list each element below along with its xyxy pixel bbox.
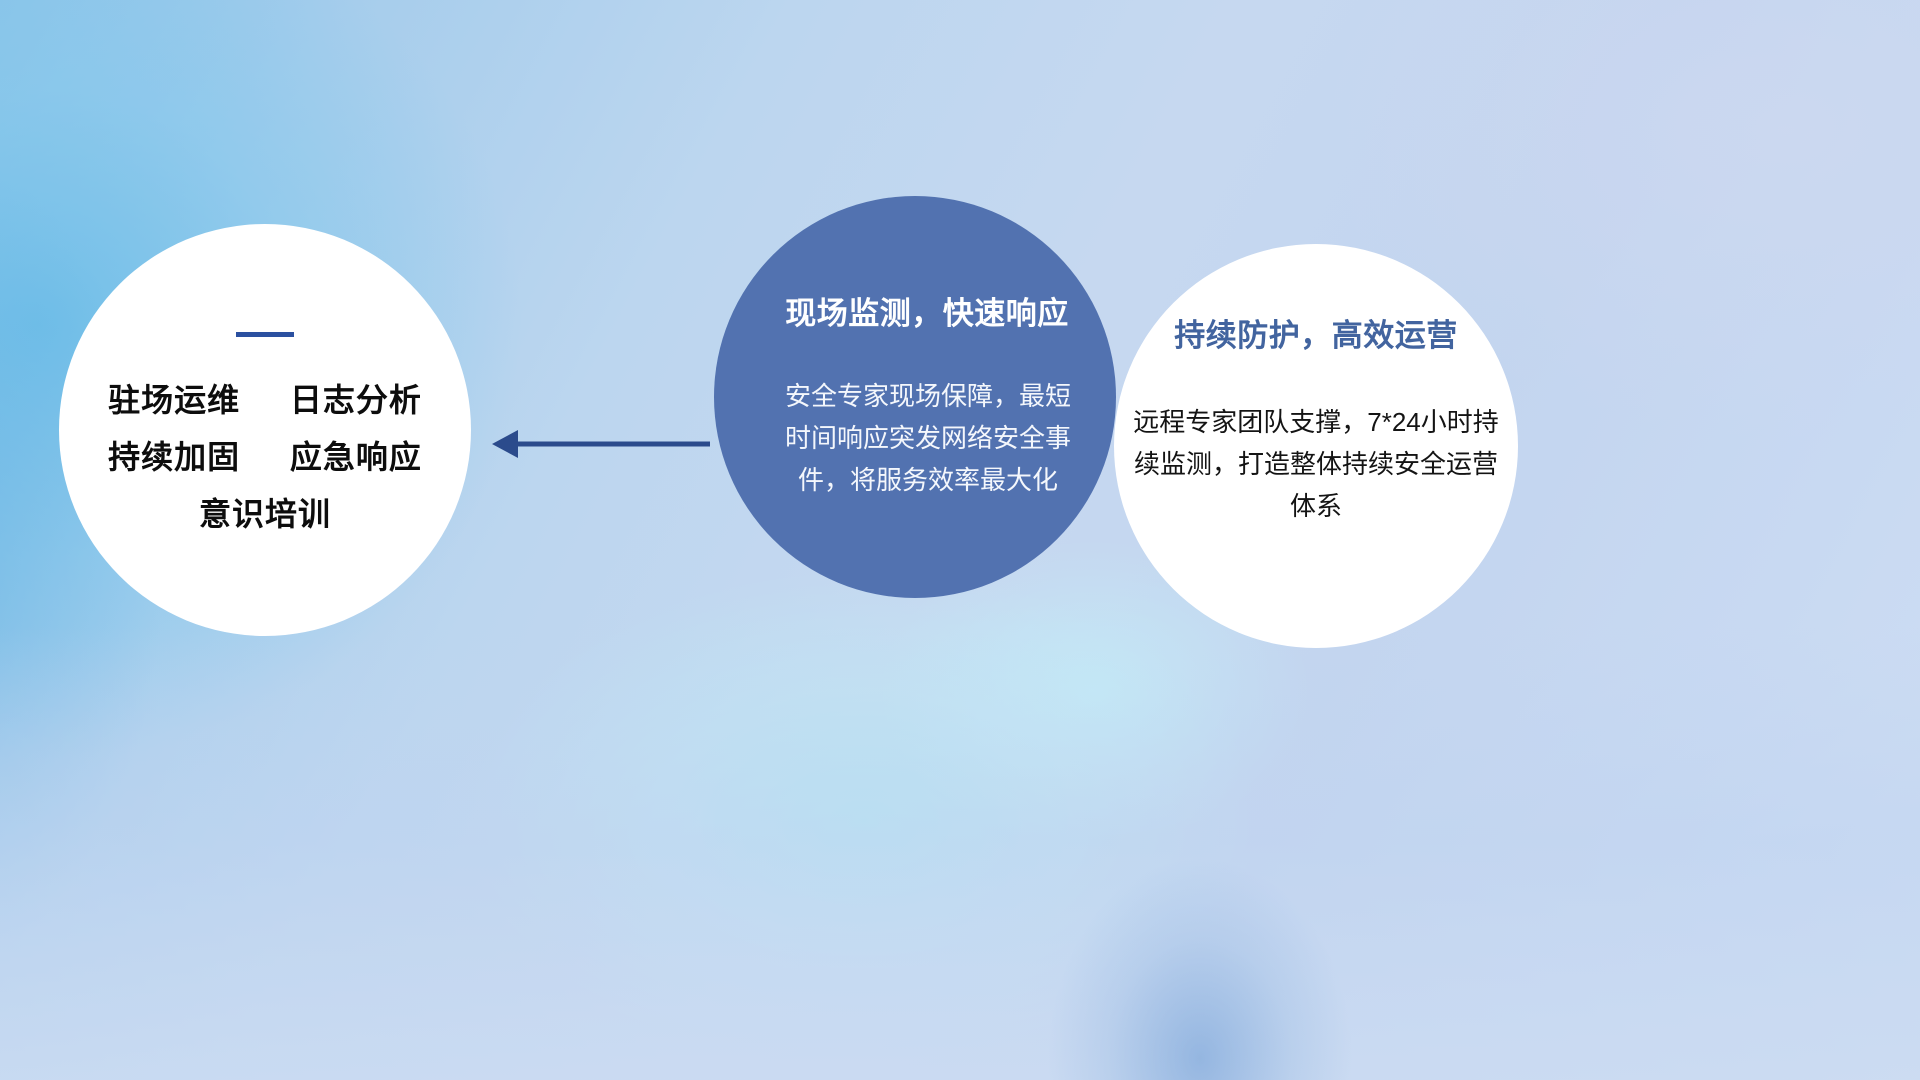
onsite-monitoring-title: 现场监测，快速响应: [785, 288, 1069, 333]
continuous-protection-title: 持续防护，高效运营: [1174, 310, 1458, 355]
onsite-monitoring-content: 现场监测，快速响应 安全专家现场保障，最短时间响应突发网络安全事件，将服务效率最…: [714, 196, 1116, 598]
left-arrow-icon: [470, 410, 730, 480]
capability-label: 应急响应: [290, 440, 422, 475]
node-onsite-monitoring[interactable]: 现场监测，快速响应 安全专家现场保障，最短时间响应突发网络安全事件，将服务效率最…: [714, 196, 1116, 598]
continuous-protection-body: 远程专家团队支撑，7*24小时持续监测，打造整体持续安全运营体系: [1130, 401, 1502, 527]
capability-label: 持续加固: [108, 440, 240, 475]
capabilities-row-3: 意识培训: [199, 497, 331, 532]
capability-label: 驻场运维: [108, 383, 240, 418]
capabilities-row-2: 持续加固 应急响应: [108, 440, 422, 475]
capability-label: 意识培训: [199, 497, 331, 532]
accent-dash-icon: [236, 332, 294, 337]
capabilities-list: 驻场运维 日志分析 持续加固 应急响应 意识培训: [108, 383, 422, 533]
capabilities-row-1: 驻场运维 日志分析: [108, 383, 422, 418]
continuous-protection-content: 持续防护，高效运营 远程专家团队支撑，7*24小时持续监测，打造整体持续安全运营…: [1114, 244, 1518, 648]
capability-label: 日志分析: [290, 383, 422, 418]
node-capabilities[interactable]: 驻场运维 日志分析 持续加固 应急响应 意识培训: [59, 224, 471, 636]
capabilities-content: 驻场运维 日志分析 持续加固 应急响应 意识培训: [59, 224, 471, 636]
node-continuous-protection[interactable]: 持续防护，高效运营 远程专家团队支撑，7*24小时持续监测，打造整体持续安全运营…: [1114, 244, 1518, 648]
slide-canvas: 驻场运维 日志分析 持续加固 应急响应 意识培训 现场监测，快速响应 安全专家现…: [0, 0, 1920, 1080]
onsite-monitoring-body: 安全专家现场保障，最短时间响应突发网络安全事件，将服务效率最大化: [778, 375, 1078, 501]
